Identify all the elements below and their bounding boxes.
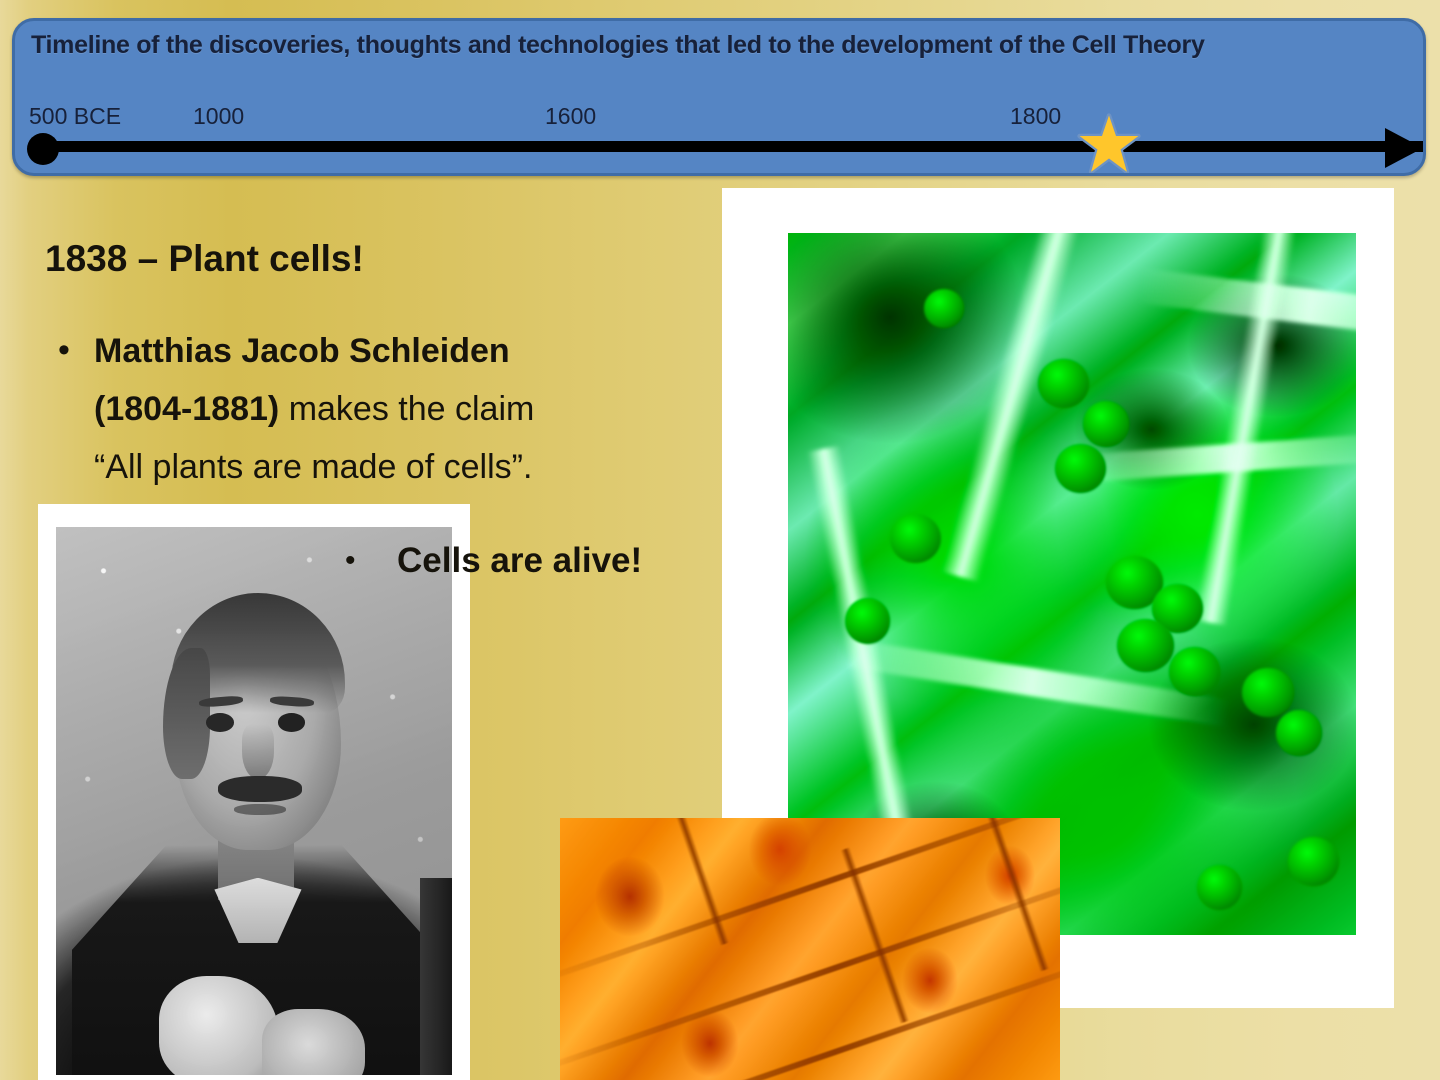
- cells-are-alive-text: Cells are alive!: [397, 536, 745, 586]
- timeline-title: Timeline of the discoveries, thoughts an…: [31, 31, 1411, 60]
- timeline-label-1500: 1500: [319, 173, 370, 176]
- list-item: • Matthias Jacob Schleiden (1804-1881) m…: [58, 322, 718, 496]
- timeline-label-1800: 1800: [1010, 103, 1061, 130]
- schleiden-name: Matthias Jacob Schleiden: [94, 332, 510, 370]
- claim-lead-in: makes the claim: [279, 390, 534, 428]
- list-item: • Cells are alive!: [345, 536, 745, 586]
- timeline-arrow-icon: [1385, 128, 1423, 168]
- secondary-bullet-list: • Cells are alive!: [345, 536, 745, 586]
- bullet-marker-icon: •: [58, 322, 94, 378]
- timeline-label-1600: 1600: [545, 103, 596, 130]
- timeline-label-1700: 1700: [770, 173, 821, 176]
- onion-cell-micrograph: [560, 818, 1060, 1080]
- schleiden-portrait: [56, 527, 452, 1075]
- timeline-label-500-bce: 500 BCE: [29, 103, 121, 130]
- timeline-axis-line: [33, 141, 1425, 152]
- slide-canvas: Timeline of the discoveries, thoughts an…: [0, 0, 1440, 1080]
- bullet-marker-icon: •: [345, 536, 397, 586]
- timeline-label-1000: 1000: [193, 103, 244, 130]
- star-marker-icon: [1077, 113, 1141, 176]
- bullet-text: Matthias Jacob Schleiden (1804-1881) mak…: [94, 322, 718, 496]
- timeline-start-dot-icon: [27, 133, 59, 165]
- bullet-list: • Matthias Jacob Schleiden (1804-1881) m…: [58, 322, 718, 496]
- schleiden-portrait-frame: [38, 504, 470, 1080]
- timeline-banner: Timeline of the discoveries, thoughts an…: [12, 18, 1426, 176]
- page-title: 1838 – Plant cells!: [45, 238, 364, 280]
- timeline-label-1900: 1900: [1247, 173, 1298, 176]
- claim-quote: “All plants are made of cells”.: [94, 448, 532, 486]
- schleiden-dates: (1804-1881): [94, 390, 279, 428]
- timeline-label-300-bce: 300 BCE: [90, 173, 182, 176]
